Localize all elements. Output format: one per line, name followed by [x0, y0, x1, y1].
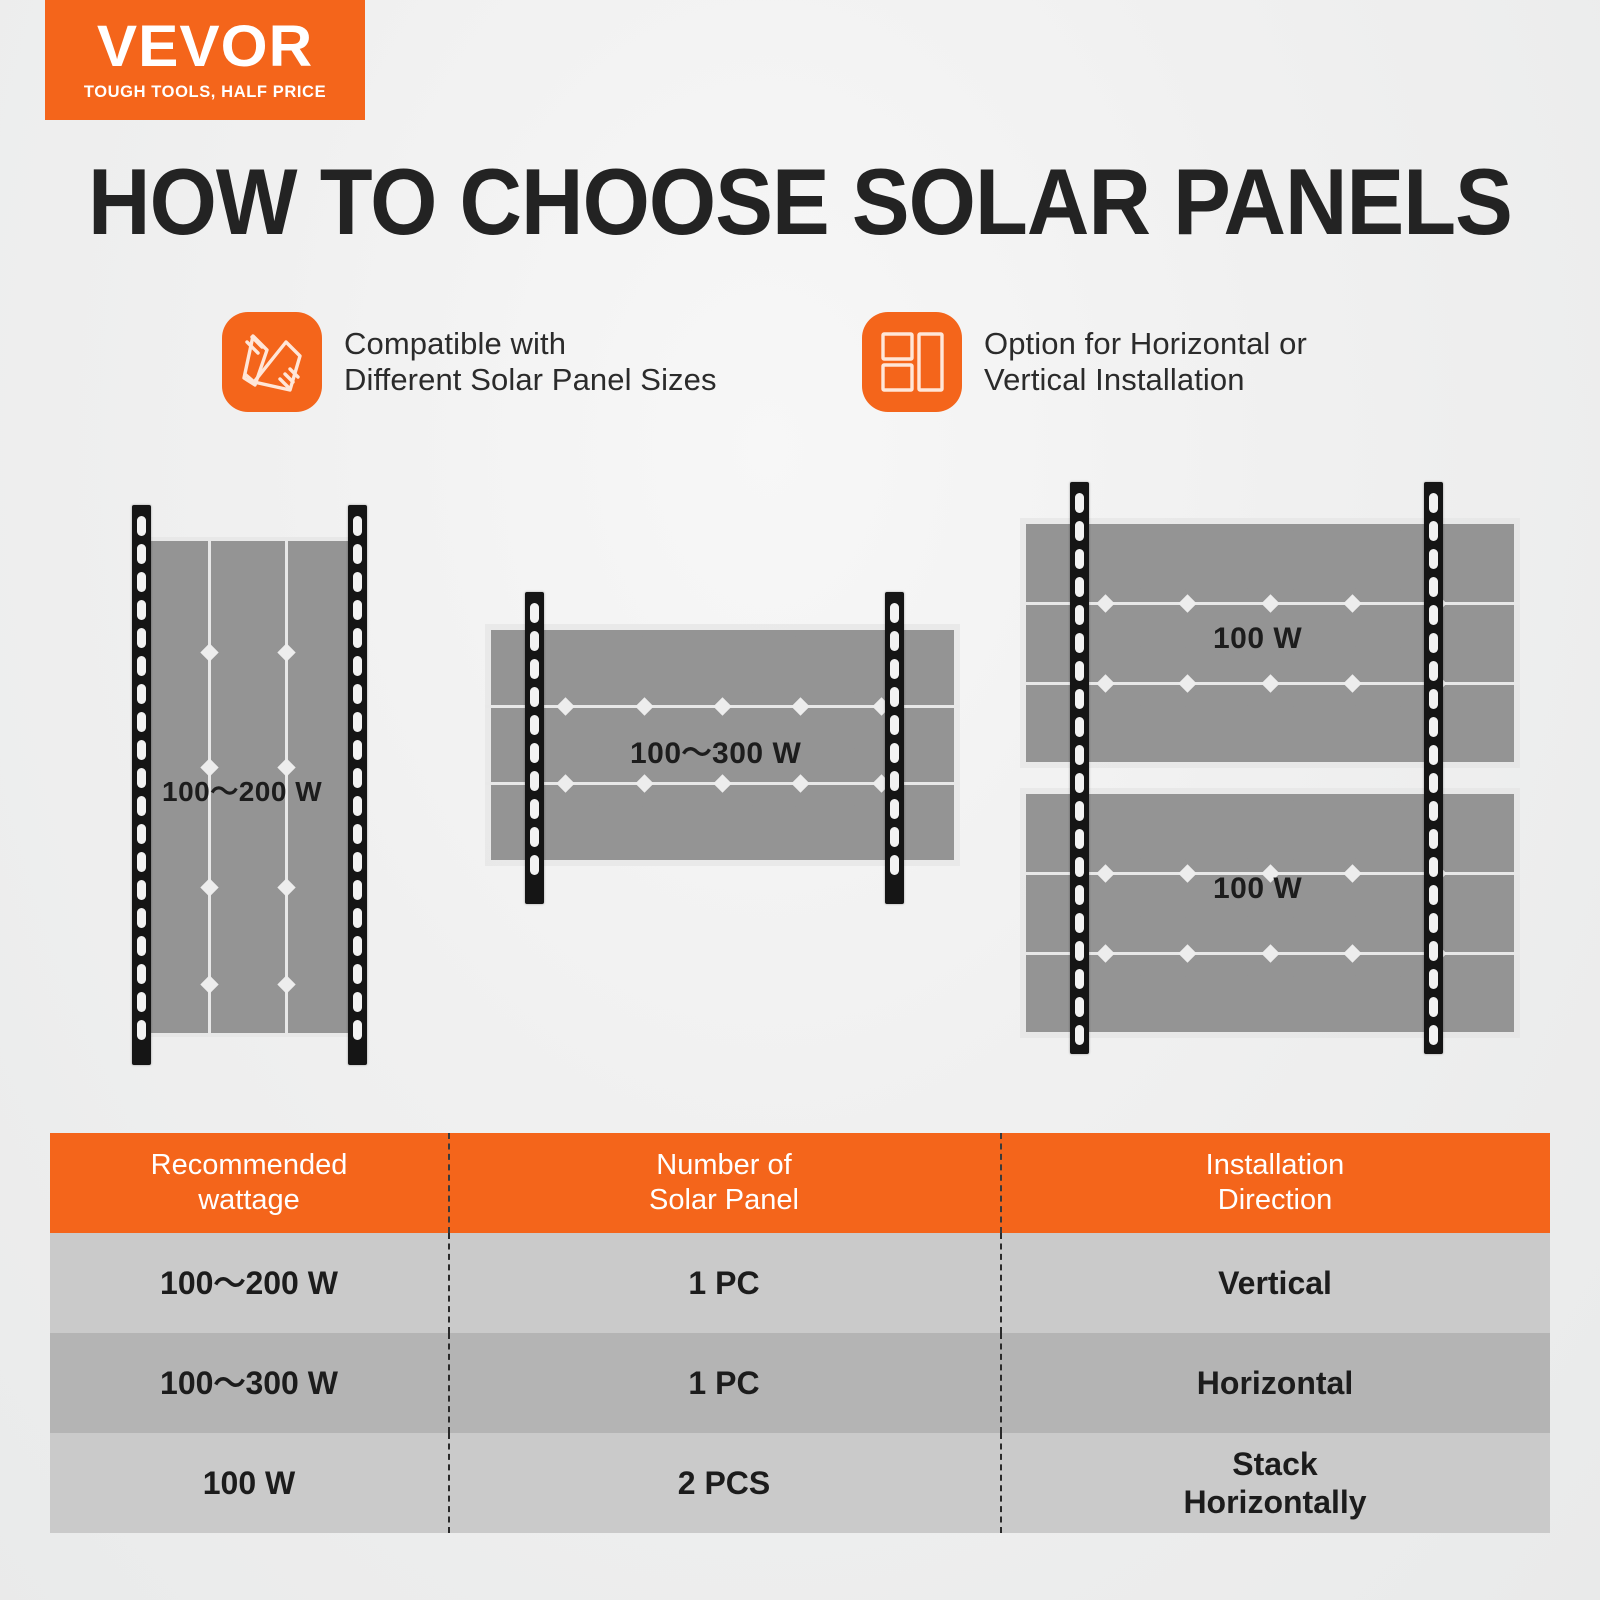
rail-slot — [1429, 689, 1438, 709]
solar-cell — [597, 634, 644, 687]
solar-cell — [295, 545, 309, 602]
rail-slot — [1429, 773, 1438, 793]
rail-slot — [137, 544, 146, 564]
solar-cell — [330, 850, 344, 907]
illustration-area: 100〜200 W 100〜300 W 100 W 100 W — [0, 470, 1600, 1090]
rail-slot — [1429, 745, 1438, 765]
solar-cell — [1353, 645, 1403, 700]
rail-slot — [1075, 633, 1084, 653]
rail-slot — [1075, 997, 1084, 1017]
solar-cell — [277, 667, 291, 724]
solar-cell — [597, 804, 644, 857]
solar-cell — [1191, 915, 1241, 970]
rail-slot — [1429, 969, 1438, 989]
solar-cell — [312, 972, 326, 1029]
rail-slot — [137, 1020, 146, 1040]
solar-cell — [1138, 528, 1188, 583]
solar-cell — [277, 911, 291, 968]
feature-label: Compatible with Different Solar Panel Si… — [344, 326, 717, 399]
table-cell-wattage: 100〜200 W — [50, 1233, 448, 1333]
solar-cell — [1138, 857, 1188, 912]
rail-slot — [137, 880, 146, 900]
rail-slot — [137, 684, 146, 704]
solar-cell — [1084, 587, 1134, 642]
solar-cell — [1138, 587, 1188, 642]
solar-cell — [152, 911, 166, 968]
rail-slot — [353, 740, 362, 760]
solar-cell — [1084, 857, 1134, 912]
rail-slot — [353, 600, 362, 620]
mounting-rail-right — [348, 505, 367, 1065]
rail-slot — [353, 628, 362, 648]
table-cell-wattage: 100 W — [50, 1433, 448, 1533]
rail-slot — [1075, 1025, 1084, 1045]
rail-slot — [1429, 857, 1438, 877]
table-cell-direction: Stack Horizontally — [1000, 1433, 1550, 1533]
feature-item-panel-sizes: Compatible with Different Solar Panel Si… — [222, 312, 717, 412]
solar-cell — [170, 972, 184, 1029]
solar-cell — [1299, 857, 1349, 912]
solar-cell — [699, 634, 746, 687]
solar-cell — [1460, 915, 1510, 970]
solar-cell — [801, 634, 848, 687]
rail-slot — [890, 631, 899, 651]
table-cell-quantity: 2 PCS — [448, 1433, 1000, 1533]
solar-cell — [170, 911, 184, 968]
solar-cell — [903, 804, 950, 857]
table-header-cell: Recommended wattage — [50, 1133, 448, 1233]
solar-cell — [312, 667, 326, 724]
solar-cell — [1299, 704, 1349, 759]
rail-slot — [1429, 997, 1438, 1017]
rail-slot — [1429, 1025, 1438, 1045]
mounting-rail-left — [525, 592, 544, 904]
solar-cell — [170, 545, 184, 602]
vevor-logo: VEVOR TOUGH TOOLS, HALF PRICE — [45, 0, 365, 120]
solar-cell — [188, 667, 202, 724]
rail-slot — [137, 572, 146, 592]
panel-wattage-label: 100〜200 W — [162, 770, 322, 810]
solar-cell — [699, 804, 746, 857]
solar-cell — [223, 850, 237, 907]
table-row: 100〜300 W 1 PC Horizontal — [50, 1333, 1550, 1433]
solar-cell — [330, 728, 344, 785]
rail-slot — [1075, 717, 1084, 737]
solar-cell — [1138, 915, 1188, 970]
rail-slot — [890, 687, 899, 707]
rail-slot — [1429, 605, 1438, 625]
solar-cell — [1084, 528, 1134, 583]
solar-cell — [241, 667, 255, 724]
rail-slot — [353, 936, 362, 956]
solar-cell — [1299, 798, 1349, 853]
rail-slot — [353, 572, 362, 592]
solar-cell — [1084, 798, 1134, 853]
column-divider — [448, 1133, 450, 1233]
mounting-rail-left — [1070, 482, 1089, 1054]
rail-slot — [530, 687, 539, 707]
solar-cell — [259, 911, 273, 968]
solar-cell — [188, 545, 202, 602]
rail-slot — [890, 659, 899, 679]
solar-cell — [241, 606, 255, 663]
solar-cell — [1353, 915, 1403, 970]
solar-cell — [1460, 587, 1510, 642]
solar-cell — [1138, 645, 1188, 700]
rail-slot — [1429, 913, 1438, 933]
solar-cell — [546, 804, 593, 857]
rail-slot — [890, 799, 899, 819]
rail-slot — [137, 740, 146, 760]
rail-slot — [1075, 745, 1084, 765]
solar-cell — [1460, 704, 1510, 759]
solar-cell — [903, 747, 950, 800]
rail-slot — [1075, 885, 1084, 905]
ruler-pencil-icon — [222, 312, 322, 412]
solar-cell — [1245, 798, 1295, 853]
solar-cell — [152, 545, 166, 602]
solar-cell — [330, 667, 344, 724]
solar-cell — [1460, 857, 1510, 912]
solar-cell — [241, 911, 255, 968]
rail-slot — [353, 768, 362, 788]
rail-slot — [353, 992, 362, 1012]
rail-slot — [1075, 521, 1084, 541]
rail-slot — [1075, 913, 1084, 933]
table-row: 100〜200 W 1 PC Vertical — [50, 1233, 1550, 1333]
illustration-stacked-panels: 100 W 100 W — [1020, 500, 1520, 1070]
rail-slot — [1429, 801, 1438, 821]
rail-slot — [353, 852, 362, 872]
rail-slot — [1075, 801, 1084, 821]
solar-cell — [312, 545, 326, 602]
solar-cell — [277, 850, 291, 907]
solar-cell — [223, 972, 237, 1029]
solar-cell — [801, 804, 848, 857]
rail-slot — [530, 631, 539, 651]
table-header-row: Recommended wattage Number of Solar Pane… — [50, 1133, 1550, 1233]
solar-cell — [1353, 528, 1403, 583]
rail-slot — [1075, 661, 1084, 681]
rail-slot — [137, 768, 146, 788]
rail-slot — [353, 516, 362, 536]
rail-slot — [353, 1020, 362, 1040]
solar-cell — [1460, 798, 1510, 853]
solar-cell — [1460, 528, 1510, 583]
rail-slot — [137, 824, 146, 844]
feature-item-installation-option: Option for Horizontal or Vertical Instal… — [862, 312, 1307, 412]
solar-cell — [295, 911, 309, 968]
rail-slot — [530, 715, 539, 735]
solar-cell — [1084, 974, 1134, 1029]
solar-cell — [259, 850, 273, 907]
rail-slot — [530, 771, 539, 791]
solar-cell — [241, 850, 255, 907]
solar-cell — [223, 545, 237, 602]
table-cell-quantity: 1 PC — [448, 1233, 1000, 1333]
rail-slot — [890, 827, 899, 847]
solar-cell — [546, 747, 593, 800]
rail-slot — [137, 936, 146, 956]
solar-cell — [546, 634, 593, 687]
solar-cell — [1460, 645, 1510, 700]
panel-wattage-label-top: 100 W — [1213, 622, 1302, 656]
solar-cell — [312, 911, 326, 968]
solar-cell — [259, 667, 273, 724]
solar-cell — [1191, 704, 1241, 759]
rail-slot — [1429, 577, 1438, 597]
table-cell-direction: Horizontal — [1000, 1333, 1550, 1433]
rail-slot — [530, 827, 539, 847]
rail-slot — [890, 771, 899, 791]
solar-cell — [750, 634, 797, 687]
table-row: 100 W 2 PCS Stack Horizontally — [50, 1433, 1550, 1533]
solar-cell — [1245, 528, 1295, 583]
rail-slot — [1075, 549, 1084, 569]
panel-layout-icon — [862, 312, 962, 412]
rail-slot — [137, 656, 146, 676]
table-cell-wattage: 100〜300 W — [50, 1333, 448, 1433]
rail-slot — [530, 743, 539, 763]
solar-cell — [241, 545, 255, 602]
rail-slot — [353, 908, 362, 928]
solar-cell — [1353, 587, 1403, 642]
solar-cell — [1460, 974, 1510, 1029]
rail-slot — [137, 712, 146, 732]
column-divider — [1000, 1233, 1002, 1333]
solar-cell — [1084, 704, 1134, 759]
rail-slot — [890, 715, 899, 735]
solar-cell — [903, 634, 950, 687]
solar-cell — [1299, 915, 1349, 970]
rail-slot — [530, 855, 539, 875]
solar-cell — [152, 667, 166, 724]
solar-cell — [750, 804, 797, 857]
solar-cell — [1138, 798, 1188, 853]
solar-cell — [330, 972, 344, 1029]
solar-cell — [801, 691, 848, 744]
illustration-vertical-panel: 100〜200 W — [120, 505, 375, 1065]
rail-slot — [353, 656, 362, 676]
solar-cell — [648, 634, 695, 687]
table-header-cell: Installation Direction — [1000, 1133, 1550, 1233]
solar-cell — [188, 911, 202, 968]
solar-cell — [188, 850, 202, 907]
solar-cell — [1191, 974, 1241, 1029]
solar-cell — [223, 911, 237, 968]
solar-cell — [152, 972, 166, 1029]
column-divider — [448, 1433, 450, 1533]
solar-cell — [1245, 704, 1295, 759]
illustration-horizontal-panel: 100〜300 W — [485, 610, 915, 930]
solar-cell — [330, 911, 344, 968]
rail-slot — [1075, 969, 1084, 989]
rail-slot — [353, 964, 362, 984]
solar-cell — [801, 747, 848, 800]
rail-slot — [137, 516, 146, 536]
rail-slot — [137, 908, 146, 928]
column-divider — [448, 1333, 450, 1433]
rail-slot — [1429, 717, 1438, 737]
solar-cell — [1191, 798, 1241, 853]
rail-slot — [1075, 773, 1084, 793]
table-header-cell: Number of Solar Panel — [448, 1133, 1000, 1233]
rail-slot — [1429, 549, 1438, 569]
logo-tagline: TOUGH TOOLS, HALF PRICE — [84, 83, 326, 102]
table-cell-quantity: 1 PC — [448, 1333, 1000, 1433]
solar-cell — [295, 972, 309, 1029]
solar-cell — [1138, 704, 1188, 759]
mounting-rail-right — [1424, 482, 1443, 1054]
rail-slot — [1429, 633, 1438, 653]
solar-cell — [152, 850, 166, 907]
rail-slot — [1429, 493, 1438, 513]
solar-cell — [1353, 704, 1403, 759]
rail-slot — [137, 600, 146, 620]
rail-slot — [890, 603, 899, 623]
mounting-rail-right — [885, 592, 904, 904]
rail-slot — [137, 964, 146, 984]
solar-cell — [312, 606, 326, 663]
column-divider — [1000, 1333, 1002, 1433]
solar-cell — [1299, 645, 1349, 700]
rail-slot — [1075, 857, 1084, 877]
solar-cell — [259, 545, 273, 602]
solar-cell — [546, 691, 593, 744]
rail-slot — [1075, 493, 1084, 513]
solar-cell — [1299, 974, 1349, 1029]
logo-wordmark: VEVOR — [97, 18, 313, 76]
table-cell-direction: Vertical — [1000, 1233, 1550, 1333]
solar-cell — [170, 606, 184, 663]
solar-cell — [1084, 915, 1134, 970]
column-divider — [448, 1233, 450, 1333]
rail-slot — [137, 852, 146, 872]
solar-cell — [170, 667, 184, 724]
solar-cell — [330, 545, 344, 602]
solar-cell — [259, 606, 273, 663]
solar-cell — [295, 606, 309, 663]
solar-cell — [1299, 528, 1349, 583]
rail-slot — [530, 603, 539, 623]
solar-cell — [312, 850, 326, 907]
solar-cell — [188, 972, 202, 1029]
specification-table: Recommended wattage Number of Solar Pane… — [50, 1133, 1550, 1533]
solar-cell — [295, 667, 309, 724]
rail-slot — [353, 824, 362, 844]
rail-slot — [353, 684, 362, 704]
rail-slot — [137, 796, 146, 816]
solar-cell — [648, 804, 695, 857]
rail-slot — [353, 544, 362, 564]
rail-slot — [1075, 605, 1084, 625]
rail-slot — [137, 992, 146, 1012]
solar-cell — [1353, 974, 1403, 1029]
solar-cell — [330, 606, 344, 663]
rail-slot — [530, 799, 539, 819]
solar-cell — [152, 606, 166, 663]
column-divider — [1000, 1433, 1002, 1533]
rail-slot — [1075, 829, 1084, 849]
rail-slot — [1429, 941, 1438, 961]
solar-cell — [1084, 645, 1134, 700]
solar-cell — [241, 972, 255, 1029]
solar-cell — [1245, 974, 1295, 1029]
rail-slot — [353, 796, 362, 816]
solar-cell — [188, 606, 202, 663]
solar-cell — [223, 606, 237, 663]
rail-slot — [1429, 829, 1438, 849]
solar-cell — [1191, 528, 1241, 583]
rail-slot — [1075, 577, 1084, 597]
solar-cell — [1353, 798, 1403, 853]
rail-slot — [1429, 885, 1438, 905]
solar-cell — [330, 789, 344, 846]
panel-wattage-label-bottom: 100 W — [1213, 872, 1302, 906]
mounting-rail-left — [132, 505, 151, 1065]
solar-cell — [259, 972, 273, 1029]
solar-cell — [170, 850, 184, 907]
panel-wattage-label: 100〜300 W — [630, 728, 801, 772]
rail-slot — [890, 743, 899, 763]
rail-slot — [890, 855, 899, 875]
rail-slot — [1429, 661, 1438, 681]
solar-cell — [1299, 587, 1349, 642]
page-title: HOW TO CHOOSE SOLAR PANELS — [64, 155, 1536, 249]
rail-slot — [1075, 941, 1084, 961]
solar-cell — [1138, 974, 1188, 1029]
rail-slot — [530, 659, 539, 679]
rail-slot — [1429, 521, 1438, 541]
solar-cell — [277, 545, 291, 602]
solar-cell — [903, 691, 950, 744]
rail-slot — [1075, 689, 1084, 709]
rail-slot — [137, 628, 146, 648]
solar-cell — [1353, 857, 1403, 912]
rail-slot — [353, 712, 362, 732]
feature-label: Option for Horizontal or Vertical Instal… — [984, 326, 1307, 399]
solar-cell — [295, 850, 309, 907]
solar-cell — [223, 667, 237, 724]
column-divider — [1000, 1133, 1002, 1233]
rail-slot — [353, 880, 362, 900]
